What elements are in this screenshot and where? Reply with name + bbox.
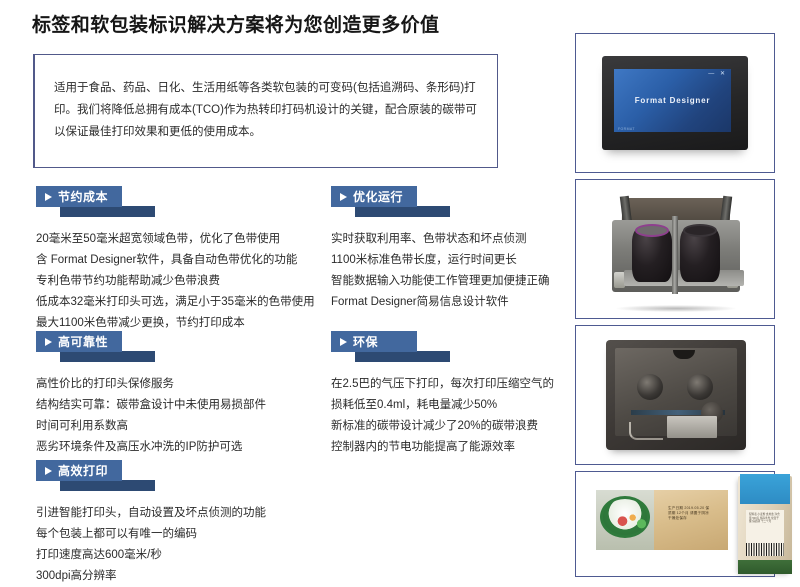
ribbon-spool-left: [632, 228, 672, 282]
feature-line: 实时获取利用率、色带状态和坏点侦测: [331, 229, 550, 250]
drive-hub-left: [637, 374, 663, 400]
page-title: 标签和软包装标识解决方案将为您创造更多价值: [32, 10, 439, 37]
feature-grid: 节约成本 20毫米至50毫米超宽领域色带，优化了色带使用 含 Format De…: [0, 186, 560, 585]
cassette-shadow: [616, 305, 736, 312]
photo-column: Format Designer — ✕ FORMAT: [575, 33, 775, 583]
controller-screen: Format Designer — ✕ FORMAT: [614, 69, 731, 132]
play-triangle-icon: [45, 193, 52, 201]
badge-shadow: [355, 351, 450, 362]
badge-main: 环保: [331, 331, 417, 352]
badge-shadow: [60, 351, 155, 362]
feature-block-cost-saving: 节约成本 20毫米至50毫米超宽领域色带，优化了色带使用 含 Format De…: [36, 186, 315, 334]
feature-line: 300dpi高分辨率: [36, 566, 266, 587]
lid-artwork: [615, 511, 649, 533]
feature-badge: 高效打印: [36, 460, 166, 492]
feature-line: 引进智能打印头，自动设置及坏点侦测的功能: [36, 503, 266, 524]
ribbon-cassette-photo: [604, 190, 748, 308]
stand-up-pouch-sample: 配料表 小麦粉 食用盐 净含量 500克 储存条件 常温干燥 保质期 十二个月: [738, 476, 792, 574]
feature-line: 打印速度高达600毫米/秒: [36, 545, 266, 566]
kraft-printed-code: 生产日期 2019.05.20 保质期 12个月 请置于阴凉干燥处保存: [668, 506, 712, 522]
feature-badge-label: 环保: [353, 333, 378, 350]
packaging-samples-photo: 生产日期 2019.05.20 保质期 12个月 请置于阴凉干燥处保存: [596, 490, 728, 550]
badge-main: 优化运行: [331, 186, 417, 207]
badge-main: 节约成本: [36, 186, 122, 207]
badge-shadow: [60, 480, 155, 491]
feature-block-optimized-operation: 优化运行 实时获取利用率、色带状态和坏点侦测 1100米标准色带长度，运行时间更…: [331, 186, 550, 313]
feature-line: 专利色带节约功能帮助减少色带浪费: [36, 271, 315, 292]
kraft-paper-sample: 生产日期 2019.05.20 保质期 12个月 请置于阴凉干燥处保存: [654, 490, 728, 550]
feature-badge: 优化运行: [331, 186, 461, 218]
photo-frame-packaging: 生产日期 2019.05.20 保质期 12个月 请置于阴凉干燥处保存 配料表 …: [575, 471, 775, 577]
play-triangle-icon: [340, 193, 347, 201]
photo-frame-chassis: [575, 325, 775, 465]
feature-lines: 高性价比的打印头保修服务 结构结实可靠：碳带盒设计中未使用易损部件 时间可利用系…: [36, 374, 266, 458]
feature-line: 高性价比的打印头保修服务: [36, 374, 266, 395]
feature-lines: 引进智能打印头，自动设置及坏点侦测的功能 每个包装上都可以有唯一的编码 打印速度…: [36, 503, 266, 587]
controller-screen-text: Format Designer: [635, 96, 711, 105]
feature-line: Format Designer简易信息设计软件: [331, 292, 550, 313]
feature-line: 结构结实可靠：碳带盒设计中未使用易损部件: [36, 395, 266, 416]
feature-line: 20毫米至50毫米超宽领域色带，优化了色带使用: [36, 229, 315, 250]
feature-lines: 在2.5巴的气压下打印，每次打印压缩空气的 损耗低至0.4ml，耗电量减少50%…: [331, 374, 554, 458]
feature-badge: 高可靠性: [36, 331, 166, 363]
play-triangle-icon: [340, 338, 347, 346]
feature-lines: 20毫米至50毫米超宽领域色带，优化了色带使用 含 Format Designe…: [36, 229, 315, 334]
pouch-bottom-gusset: [738, 560, 792, 574]
touchscreen-controller-photo: Format Designer — ✕ FORMAT: [602, 56, 748, 150]
feature-badge-label: 高效打印: [58, 462, 108, 479]
intro-text: 适用于食品、药品、日化、生活用纸等各类软包装的可变码(包括追溯码、条形码)打印。…: [54, 77, 484, 143]
feature-line: 含 Format Designer软件，具备自动色带优化的功能: [36, 250, 315, 271]
chassis-notch: [673, 350, 695, 359]
feature-block-high-reliability: 高可靠性 高性价比的打印头保修服务 结构结实可靠：碳带盒设计中未使用易损部件 时…: [36, 331, 266, 458]
drive-hub-right: [687, 374, 713, 400]
feature-block-environmental: 环保 在2.5巴的气压下打印，每次打印压缩空气的 损耗低至0.4ml，耗电量减少…: [331, 331, 554, 458]
feature-badge-label: 高可靠性: [58, 333, 108, 350]
barcode-icon: [746, 543, 784, 556]
feature-badge-label: 优化运行: [353, 188, 403, 205]
controller-brand-text: FORMAT: [618, 127, 635, 131]
feature-line: 新标准的碳带设计减少了20%的碳带浪费: [331, 416, 554, 437]
feature-line: 每个包装上都可以有唯一的编码: [36, 524, 266, 545]
chassis-connector-block: [667, 416, 717, 438]
feature-line: 恶劣环境条件及高压水冲洗的IP防护可选: [36, 437, 266, 458]
feature-line: 控制器内的节电功能提高了能源效率: [331, 437, 554, 458]
chassis-plate: [615, 348, 737, 436]
ribbon-spool-core: [683, 224, 717, 237]
play-triangle-icon: [45, 338, 52, 346]
badge-main: 高效打印: [36, 460, 122, 481]
pouch-label-text: 配料表 小麦粉 食用盐 净含量 500克 储存条件 常温干燥 保质期 十二个月: [749, 513, 781, 524]
feature-line: 损耗低至0.4ml，耗电量减少50%: [331, 395, 554, 416]
cassette-center-post: [672, 216, 678, 294]
feature-line: 低成本32毫米打印头可选，满足小于35毫米的色带使用: [36, 292, 315, 313]
feature-line: 在2.5巴的气压下打印，每次打印压缩空气的: [331, 374, 554, 395]
window-buttons-icon: — ✕: [708, 70, 727, 77]
feature-block-efficient-printing: 高效打印 引进智能打印头，自动设置及坏点侦测的功能 每个包装上都可以有唯一的编码…: [36, 460, 266, 587]
feature-line: 时间可利用系数高: [36, 416, 266, 437]
play-triangle-icon: [45, 467, 52, 475]
feature-lines: 实时获取利用率、色带状态和坏点侦测 1100米标准色带长度，运行时间更长 智能数…: [331, 229, 550, 313]
badge-main: 高可靠性: [36, 331, 122, 352]
badge-shadow: [355, 206, 450, 217]
feature-badge: 节约成本: [36, 186, 166, 218]
photo-frame-controller: Format Designer — ✕ FORMAT: [575, 33, 775, 173]
lidded-container-sample: [596, 490, 654, 550]
ribbon-spool-ring: [635, 224, 669, 237]
feature-badge: 环保: [331, 331, 461, 363]
chassis-wiring: [629, 422, 663, 440]
feature-line: 1100米标准色带长度，运行时间更长: [331, 250, 550, 271]
photo-frame-cassette: [575, 179, 775, 319]
container-lid: [600, 496, 650, 538]
ribbon-spool-right: [680, 228, 720, 282]
intro-box: 适用于食品、药品、日化、生活用纸等各类软包装的可变码(包括追溯码、条形码)打印。…: [33, 54, 498, 168]
pouch-top-seal: [740, 474, 790, 504]
feature-line: 智能数据输入功能使工作管理更加便捷正确: [331, 271, 550, 292]
printer-chassis-photo: [606, 340, 746, 450]
badge-shadow: [60, 206, 155, 217]
feature-badge-label: 节约成本: [58, 188, 108, 205]
